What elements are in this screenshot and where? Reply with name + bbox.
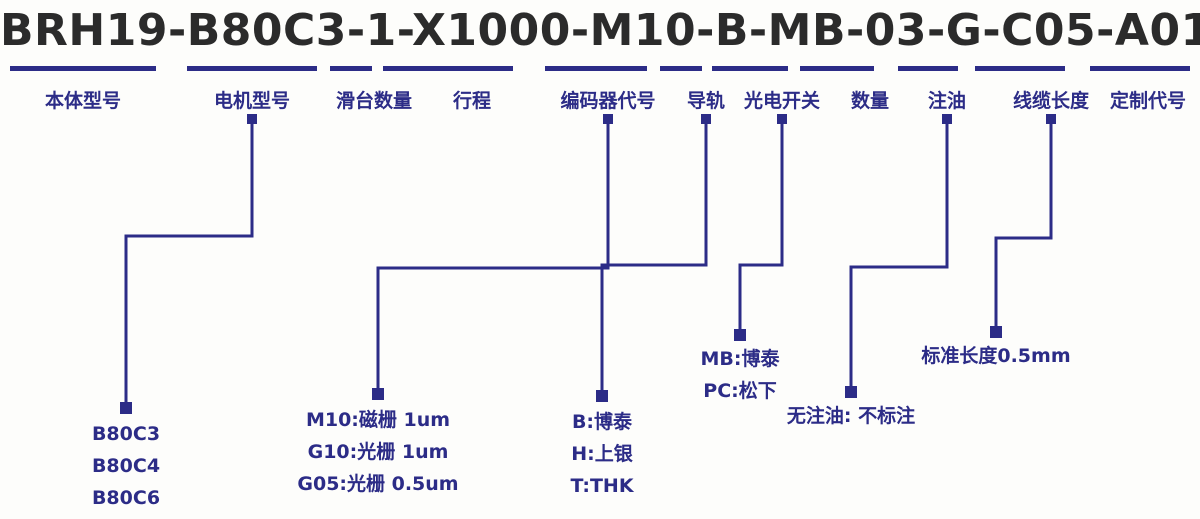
note-line: H:上银 (452, 438, 752, 470)
segment-underline-7 (800, 66, 874, 71)
segment-underline-10 (1090, 66, 1190, 71)
segment-underline-6 (712, 66, 788, 71)
field-label-10: 定制代号 (1048, 88, 1200, 114)
segment-underline-3 (383, 66, 513, 71)
model-code-title: BRH19-B80C3-1-X1000-M10-B-MB-03-G-C05-A0… (0, 0, 1200, 62)
note-line: 标准长度0.5mm (846, 340, 1146, 372)
leader-encoder (372, 114, 613, 400)
note-line: MB:博泰 (590, 343, 890, 375)
oil-note: 无注油: 不标注 (701, 400, 1001, 432)
cable-length-note: 标准长度0.5mm (846, 340, 1146, 372)
leader-cable-length (990, 114, 1056, 338)
segment-underline-9 (975, 66, 1065, 71)
photoswitch-options: MB:博泰PC:松下 (590, 343, 890, 407)
segment-underline-2 (330, 66, 372, 71)
leader-body-model (120, 114, 257, 414)
segment-underline-1 (187, 66, 317, 71)
segment-underline-4 (545, 66, 647, 71)
segment-underline-8 (898, 66, 958, 71)
model-code-breakdown-diagram: BRH19-B80C3-1-X1000-M10-B-MB-03-G-C05-A0… (0, 0, 1200, 519)
segment-underline-0 (10, 66, 156, 71)
segment-underline-5 (660, 66, 702, 71)
note-line: 无注油: 不标注 (701, 400, 1001, 432)
note-line: T:THK (452, 470, 752, 502)
leader-photoswitch (734, 114, 787, 341)
